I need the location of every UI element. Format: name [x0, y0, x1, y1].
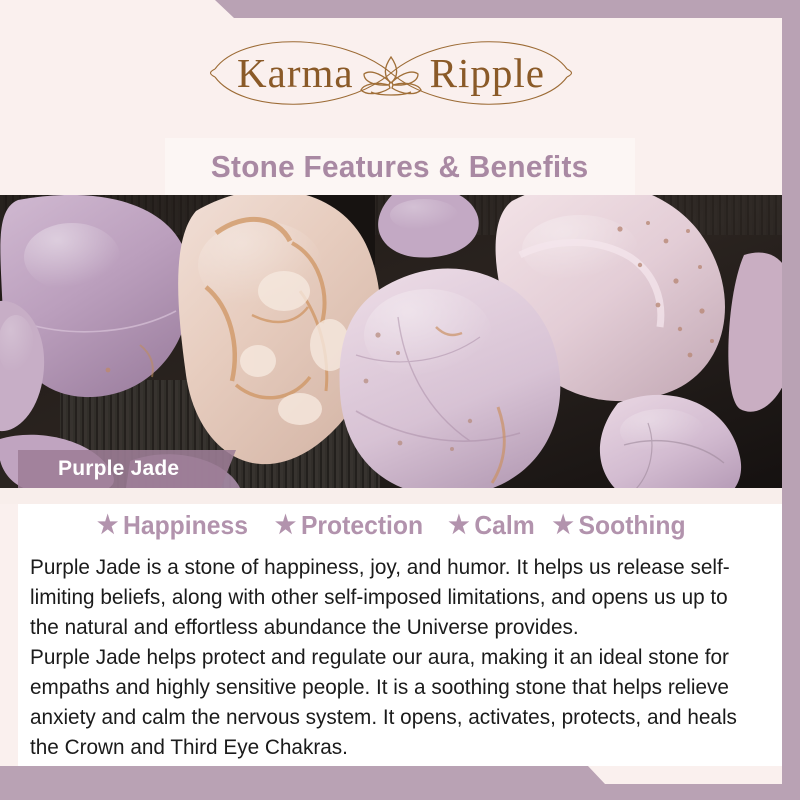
star-icon: ★ [275, 513, 296, 538]
page-title: Stone Features & Benefits [211, 149, 589, 185]
keyword-label: Protection [301, 510, 423, 541]
keyword-happiness: ★ Happiness [97, 510, 248, 541]
benefit-keywords-row: ★ Happiness ★ Protection ★ Calm ★ Soothi… [0, 503, 782, 547]
brand-header: Karma Ripple [0, 18, 782, 128]
brand-wordmark: Karma Ripple [237, 49, 545, 97]
stone-name-label: Purple Jade [18, 457, 179, 481]
section-title-banner: Stone Features & Benefits [165, 138, 635, 195]
description-text: Purple Jade is a stone of happiness, joy… [30, 552, 744, 762]
brand-name-left: Karma [237, 49, 354, 97]
brand-logo: Karma Ripple [181, 27, 601, 119]
keyword-label: Happiness [123, 510, 248, 541]
purple-jade-stones-photo [0, 195, 782, 488]
star-icon: ★ [448, 513, 469, 538]
brand-name-right: Ripple [430, 49, 545, 97]
infographic-page: Karma Ripple [0, 0, 800, 800]
keyword-calm: ★ Calm [448, 510, 534, 541]
keyword-label: Soothing [578, 510, 685, 541]
photo-underline-tint [0, 488, 782, 504]
description-paragraph-1: Purple Jade is a stone of happiness, joy… [30, 552, 744, 642]
star-icon: ★ [552, 513, 573, 538]
keyword-label: Calm [474, 510, 534, 541]
keyword-soothing: ★ Soothing [552, 510, 685, 541]
stone-name-badge: Purple Jade [18, 450, 236, 488]
description-paragraph-2: Purple Jade helps protect and regulate o… [30, 642, 744, 762]
keyword-protection: ★ Protection [275, 510, 423, 541]
star-icon: ★ [97, 513, 118, 538]
